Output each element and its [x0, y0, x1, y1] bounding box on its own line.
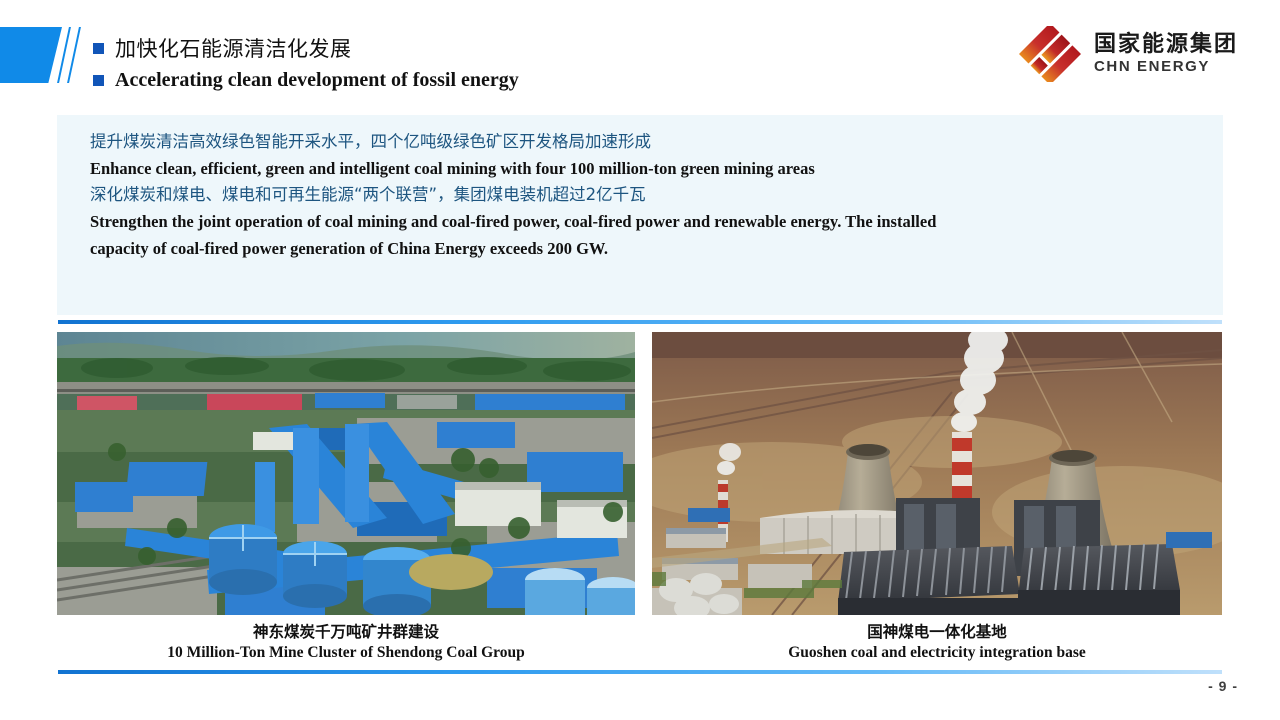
divider-top	[58, 320, 1222, 324]
guoshen-power-plant-illustration	[652, 332, 1222, 615]
page-title-cn: 加快化石能源清洁化发展	[115, 33, 352, 63]
caption-right-en: Guoshen coal and electricity integration…	[652, 643, 1222, 664]
panel-line-1: 提升煤炭清洁高效绿色智能开采水平，四个亿吨级绿色矿区开发格局加速形成	[90, 129, 1195, 156]
panel-line-2: Enhance clean, efficient, green and inte…	[90, 156, 1195, 183]
parallelogram-decoration-icon	[0, 27, 62, 83]
slide-title-block: 加快化石能源清洁化发展 Accelerating clean developme…	[93, 32, 519, 96]
title-row-chinese: 加快化石能源清洁化发展	[93, 32, 519, 64]
square-bullet-icon	[93, 43, 104, 54]
guoshen-power-plant-photo	[652, 332, 1222, 615]
title-row-english: Accelerating clean development of fossil…	[93, 64, 519, 96]
slide-root: 加快化石能源清洁化发展 Accelerating clean developme…	[0, 0, 1280, 720]
shendong-coal-mine-illustration	[57, 332, 635, 615]
caption-left-cn: 神东煤炭千万吨矿井群建设	[57, 622, 635, 643]
panel-line-3: 深化煤炭和煤电、煤电和可再生能源“两个联营”，集团煤电装机超过2亿千瓦	[90, 182, 1195, 209]
caption-right-cn: 国神煤电一体化基地	[652, 622, 1222, 643]
shendong-coal-mine-photo	[57, 332, 635, 615]
chn-energy-diamond-logo-icon	[1016, 26, 1084, 82]
caption-left-en: 10 Million-Ton Mine Cluster of Shendong …	[57, 643, 635, 664]
panel-line-4: Strengthen the joint operation of coal m…	[90, 209, 1195, 236]
divider-bottom	[58, 670, 1222, 674]
panel-line-5: capacity of coal-fired power generation …	[90, 236, 1195, 263]
content-panel: 提升煤炭清洁高效绿色智能开采水平，四个亿吨级绿色矿区开发格局加速形成 Enhan…	[57, 115, 1223, 315]
brand-name-cn: 国家能源集团	[1094, 32, 1238, 57]
brand-name-en: CHN ENERGY	[1094, 58, 1238, 76]
page-number: - 9 -	[1208, 678, 1238, 694]
brand-logo-text: 国家能源集团 CHN ENERGY	[1094, 32, 1238, 76]
caption-right: 国神煤电一体化基地 Guoshen coal and electricity i…	[652, 622, 1222, 664]
square-bullet-icon-2	[93, 75, 104, 86]
brand-logo: 国家能源集团 CHN ENERGY	[1016, 26, 1238, 82]
caption-left: 神东煤炭千万吨矿井群建设 10 Million-Ton Mine Cluster…	[57, 622, 635, 664]
page-title-en: Accelerating clean development of fossil…	[115, 69, 519, 92]
